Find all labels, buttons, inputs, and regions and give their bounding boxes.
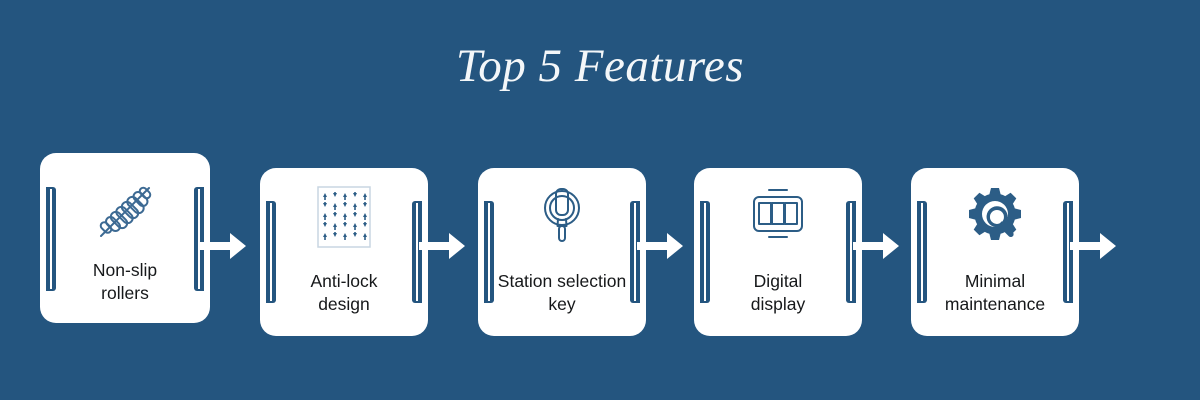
rotary-knob-icon — [478, 184, 646, 248]
arrow-right-3 — [637, 230, 685, 262]
grip-pattern-grid-icon — [260, 186, 428, 248]
gear-wrench-icon — [911, 186, 1079, 246]
feature-card-5[interactable]: Minimal maintenance — [911, 168, 1079, 336]
feature-card-4[interactable]: Digital display — [694, 168, 862, 336]
spring-roller-icon — [40, 175, 210, 249]
feature-card-3-label: Station selection key — [478, 270, 646, 316]
feature-card-4-label: Digital display — [694, 270, 862, 316]
arrow-right-2 — [419, 230, 467, 262]
arrow-right-5 — [1070, 230, 1118, 262]
page-title: Top 5 Features — [0, 36, 1200, 96]
infographic-canvas: Top 5 Features — [0, 0, 1200, 400]
feature-card-1-label: Non-slip rollers — [40, 259, 210, 305]
feature-card-5-label: Minimal maintenance — [911, 270, 1079, 316]
feature-card-1[interactable]: Non-slip rollers — [40, 153, 210, 323]
arrow-right-4 — [853, 230, 901, 262]
feature-card-2-label: Anti-lock design — [260, 270, 428, 316]
arrow-right-1 — [200, 230, 248, 262]
feature-card-3[interactable]: Station selection key — [478, 168, 646, 336]
digital-display-icon — [694, 186, 862, 244]
feature-card-2[interactable]: Anti-lock design — [260, 168, 428, 336]
